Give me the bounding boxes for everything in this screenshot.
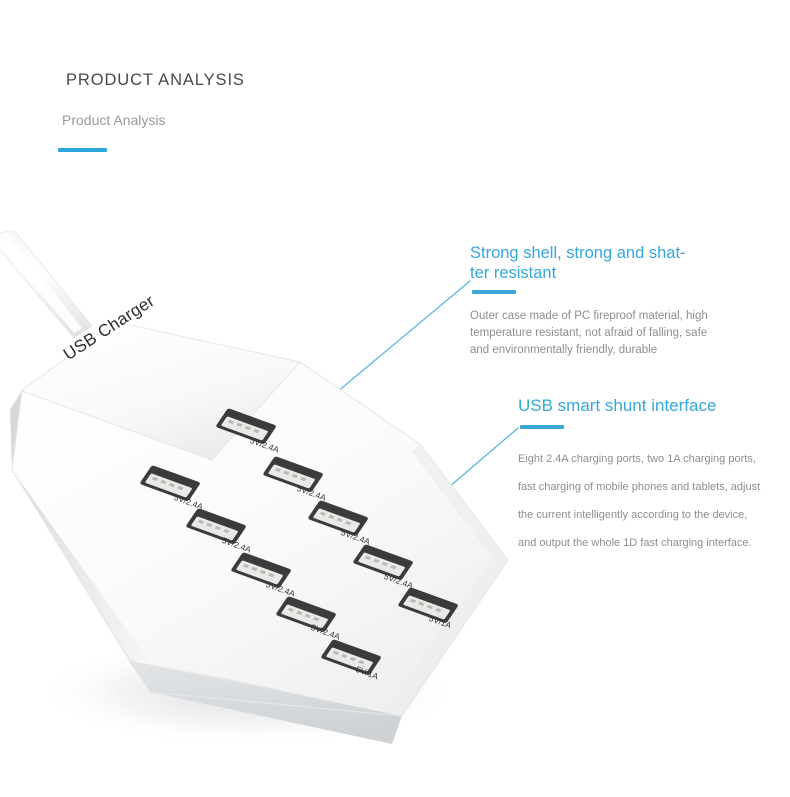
charger-illustration	[0, 230, 560, 750]
cable-highlight	[0, 232, 82, 333]
header-accent-bar	[58, 148, 107, 152]
page-title: PRODUCT ANALYSIS	[66, 71, 245, 90]
page-subtitle: Product Analysis	[62, 112, 166, 128]
product-analysis-page: PRODUCT ANALYSIS Product Analysis Strong…	[0, 0, 790, 797]
usb-charger-product-image: USB Charger 5V/2.4A 5V/2.4A 5V/2.4A 5V/2…	[0, 230, 560, 750]
